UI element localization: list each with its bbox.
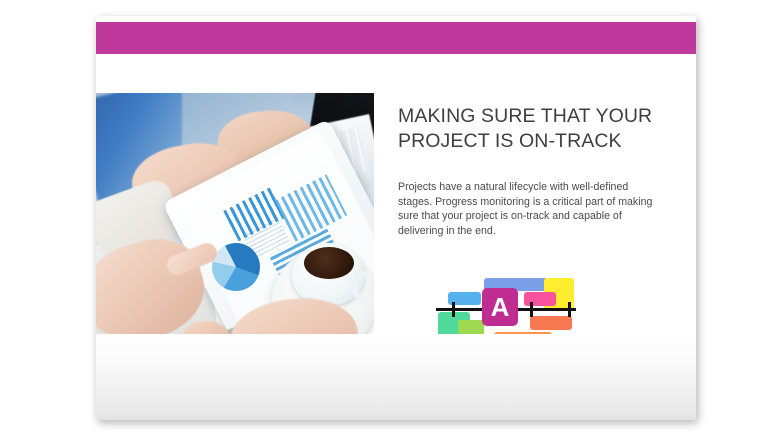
slide-photo [96,93,374,345]
slide-content-column: MAKING SURE THAT YOUR PROJECT IS ON-TRAC… [398,104,660,238]
timeline-bar-orange-right [530,316,572,330]
slide-footer-gradient [96,334,696,420]
slide-title: MAKING SURE THAT YOUR PROJECT IS ON-TRAC… [398,104,660,154]
photo-coffee-liquid [304,247,354,279]
presentation-slide: MAKING SURE THAT YOUR PROJECT IS ON-TRAC… [96,16,696,420]
slide-header-band [96,22,696,54]
timeline-tick-1 [452,302,455,317]
timeline-bar-pink [524,292,556,306]
timeline-tick-3 [530,302,533,317]
slide-body-text: Projects have a natural lifecycle with w… [398,180,660,238]
timeline-milestone-badge: A [482,288,518,326]
timeline-tick-4 [568,302,571,317]
